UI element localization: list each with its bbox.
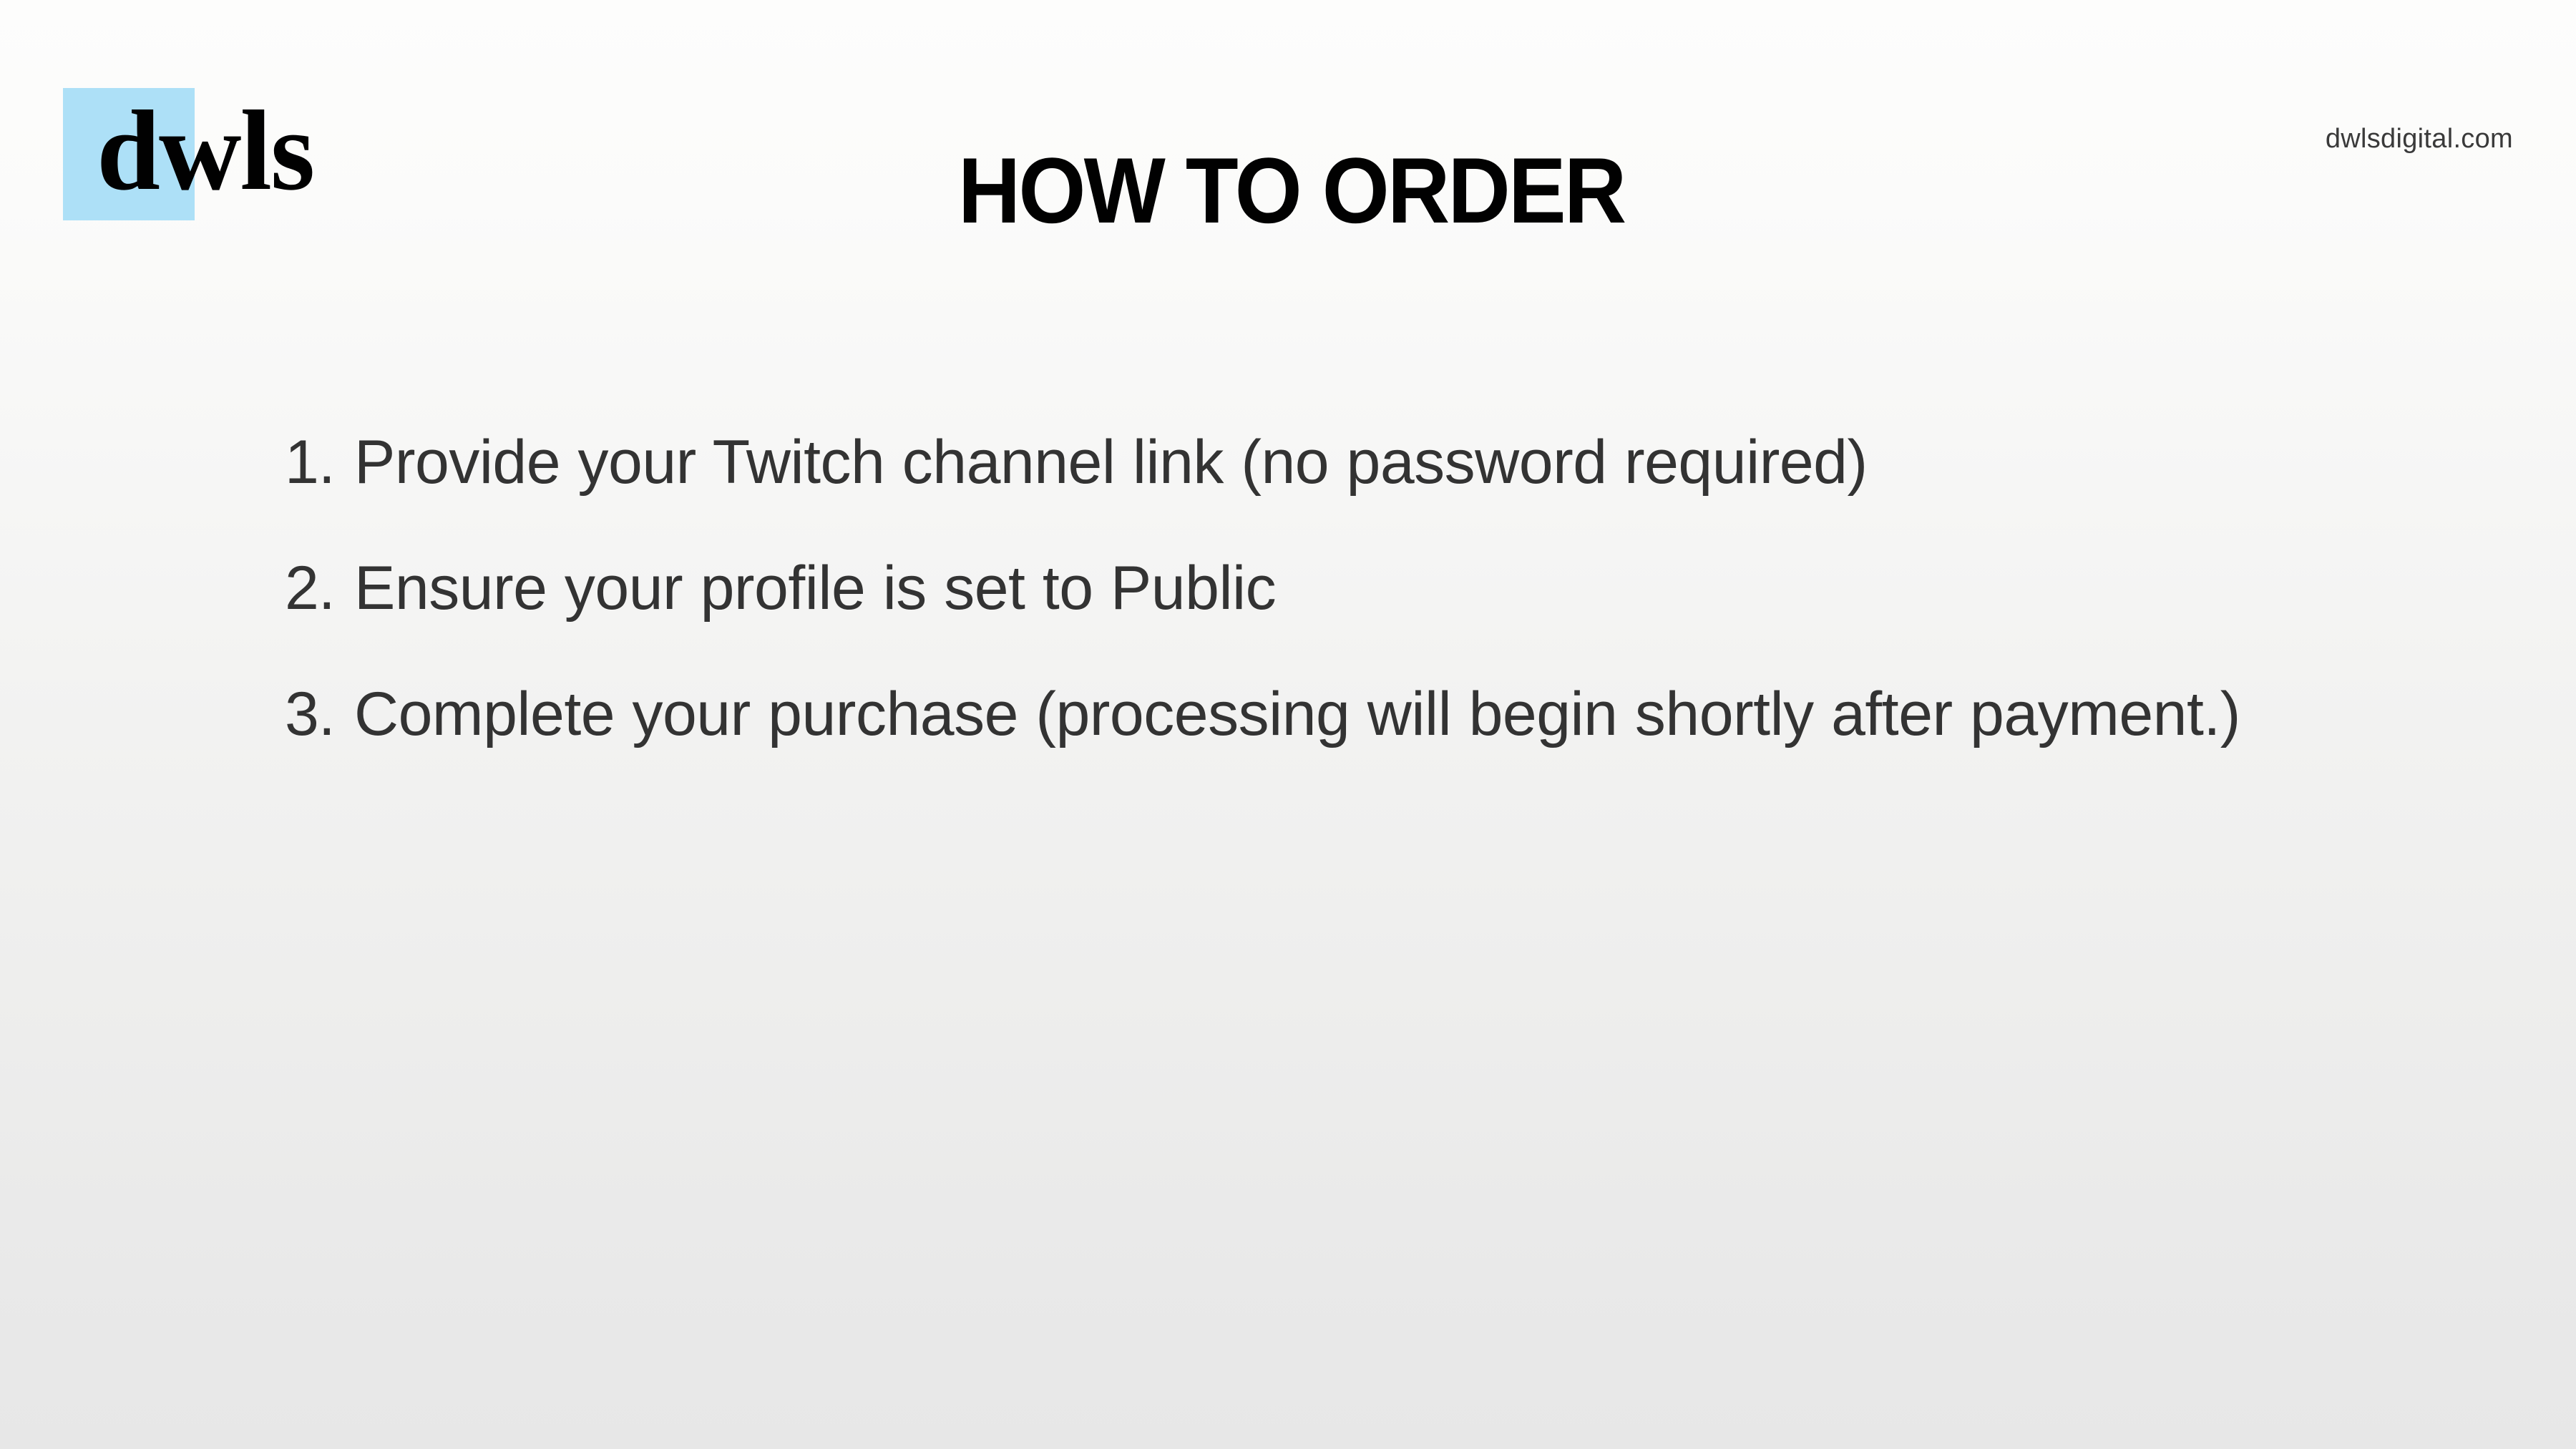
step-text: Complete your purchase (processing will … <box>354 653 2433 776</box>
step-number: 2. <box>285 527 354 650</box>
steps-list: 1. Provide your Twitch channel link (no … <box>285 401 2433 779</box>
list-item: 2. Ensure your profile is set to Public <box>285 527 2433 650</box>
list-item: 1. Provide your Twitch channel link (no … <box>285 401 2433 524</box>
slide-canvas: dwls HOW TO ORDER dwlsdigital.com 1. Pro… <box>0 0 2576 1449</box>
step-text: Provide your Twitch channel link (no pas… <box>354 401 2433 524</box>
step-number: 1. <box>285 401 354 524</box>
page-title: HOW TO ORDER <box>94 140 2489 240</box>
step-text: Ensure your profile is set to Public <box>354 527 2433 650</box>
list-item: 3. Complete your purchase (processing wi… <box>285 653 2433 776</box>
step-number: 3. <box>285 653 354 776</box>
site-url-label: dwlsdigital.com <box>2326 122 2513 156</box>
